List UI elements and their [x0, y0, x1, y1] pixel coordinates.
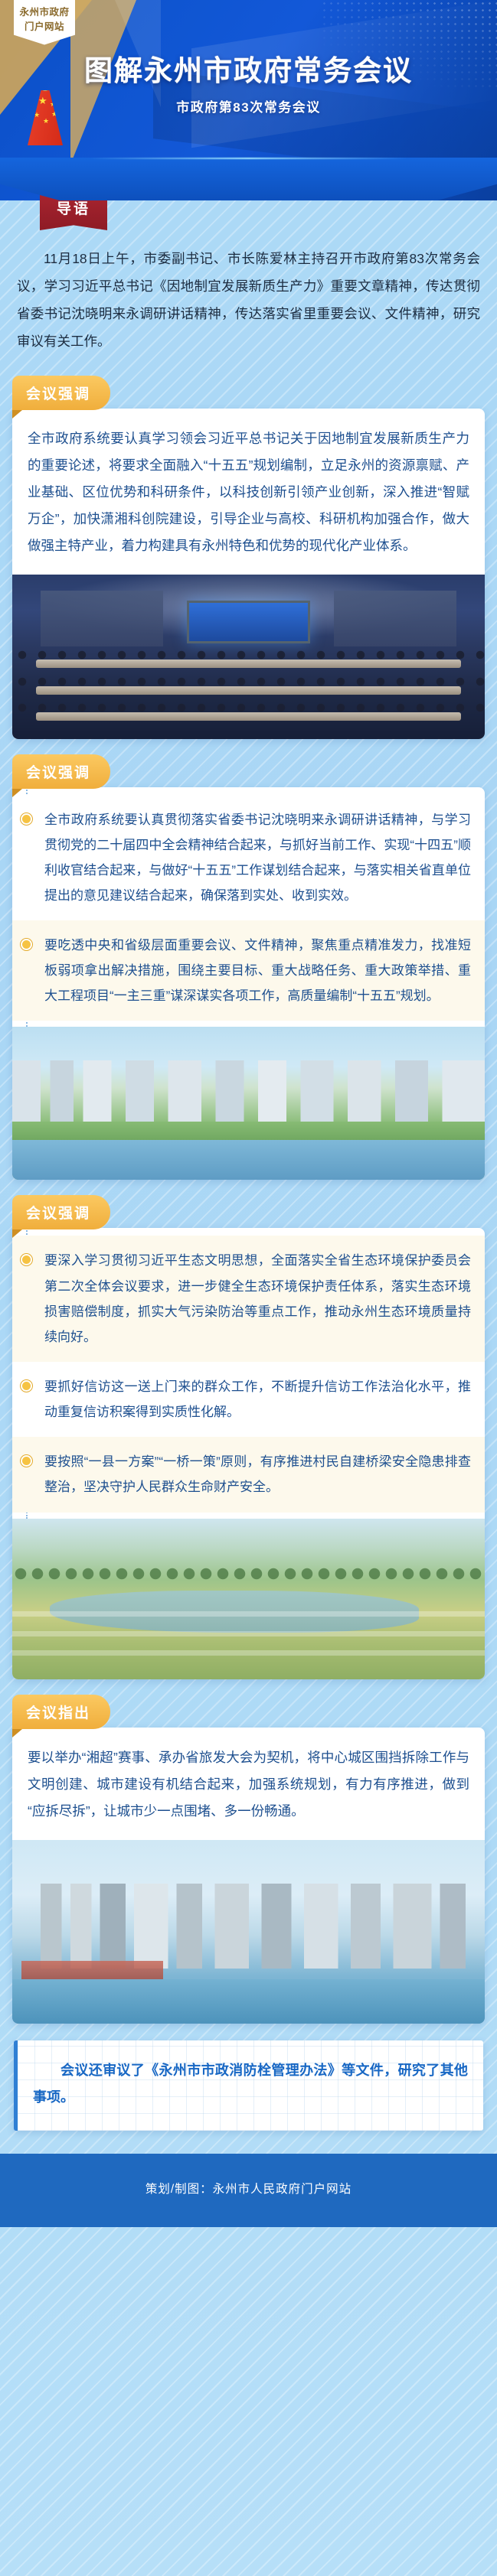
list-item-text: 要按照“一县一方案”“一桥一策”原则，有序推进村民自建桥梁安全隐患排查整治，坚决… [44, 1449, 471, 1500]
section-1-tab: 会议强调 [12, 376, 110, 410]
list-item: 全市政府系统要认真贯彻落实省委书记沈晓明来永调研讲话精神，与学习贯彻党的二十届四… [12, 795, 485, 921]
river-band [12, 1140, 485, 1180]
bullet-dot-icon [21, 1455, 32, 1467]
section-4-body: 要以举办“湘超”赛事、承办省旅发大会为契机，将中心城区围挡拆除工作与文明创建、城… [12, 1728, 485, 1840]
attendee-row [12, 676, 485, 687]
wall-panel-right [334, 591, 456, 646]
meeting-room-photo [12, 575, 485, 739]
field-strip [12, 1631, 485, 1636]
site-badge-line1: 永州市政府 [17, 5, 72, 20]
header-bottom-band [0, 158, 497, 200]
section-2-tab: 会议强调 [12, 754, 110, 789]
section-3-card: 要深入学习贯彻习近平生态文明思想，全面落实全省生态环境保护委员会第二次全体会议要… [12, 1228, 485, 1679]
bullet-dot-icon [21, 1254, 32, 1265]
conclusion-text: 会议还审议了《永州市市政消防栓管理办法》等文件，研究了其他事项。 [33, 2057, 468, 2111]
site-portal-badge[interactable]: 永州市政府 门户网站 [14, 0, 75, 45]
flag-star-icon: ★ [43, 118, 49, 125]
section-4-tab: 会议指出 [12, 1695, 110, 1729]
riverside-city-photo [12, 1840, 485, 2024]
page-header: 永州市政府 门户网站 ★ ★ ★ ★ ★ 图解永州市政府常务会议 市政府第83次… [0, 0, 497, 200]
section-2-card: 全市政府系统要认真贯彻落实省委书记沈晓明来永调研讲话精神，与学习贯彻党的二十届四… [12, 787, 485, 1181]
title-block: 图解永州市政府常务会议 市政府第83次常务会议 [0, 47, 497, 116]
city-skyline-photo [12, 1027, 485, 1180]
field-strip [12, 1650, 485, 1656]
section-2: 会议强调 全市政府系统要认真贯彻落实省委书记沈晓明来永调研讲话精神，与学习贯彻党… [12, 754, 485, 1181]
presentation-screen [187, 601, 309, 643]
section-4-paragraph: 要以举办“湘超”赛事、承办省旅发大会为契机，将中心城区围挡拆除工作与文明创建、城… [28, 1744, 469, 1825]
section-1: 会议强调 全市政府系统要认真学习领会习近平总书记关于因地制宜发展新质生产力的重要… [12, 376, 485, 739]
field-strip [12, 1611, 485, 1617]
infographic-page: 永州市政府 门户网站 ★ ★ ★ ★ ★ 图解永州市政府常务会议 市政府第83次… [0, 0, 497, 2576]
list-item: 要按照“一县一方案”“一桥一策”原则，有序推进村民自建桥梁安全隐患排查整治，坚决… [12, 1437, 485, 1512]
tree-line [12, 1567, 485, 1581]
section-2-bullet-list: 全市政府系统要认真贯彻落实省委书记沈晓明来永调研讲话精神，与学习贯彻党的二十届四… [12, 787, 485, 1027]
intro-section: 导语 11月18日上午，市委副书记、市长陈爱林主持召开市政府第83次常务会议，学… [0, 200, 497, 376]
list-item: 要深入学习贯彻习近平生态文明思想，全面落实全省生态环境保护委员会第二次全体会议要… [12, 1236, 485, 1362]
section-3-bullet-list: 要深入学习贯彻习近平生态文明思想，全面落实全省生态环境保护委员会第二次全体会议要… [12, 1228, 485, 1518]
header-glow-line [90, 158, 407, 159]
farmland-aerial-photo [12, 1519, 485, 1679]
high-rise-towers [41, 1884, 466, 1968]
intro-paragraph: 11月18日上午，市委副书记、市长陈爱林主持召开市政府第83次常务会议，学习习近… [17, 246, 480, 356]
attendee-row [12, 650, 485, 660]
conference-table-row [36, 659, 461, 668]
conclusion-box: 会议还审议了《永州市市政消防栓管理办法》等文件，研究了其他事项。 [14, 2040, 483, 2131]
attendee-row [12, 702, 485, 713]
section-3: 会议强调 要深入学习贯彻习近平生态文明思想，全面落实全省生态环境保护委员会第二次… [12, 1195, 485, 1679]
list-item-text: 要吃透中央和省级层面重要会议、文件精神，聚焦重点精准发力，找准短板弱项拿出解决措… [44, 933, 471, 1008]
bullet-dot-icon [21, 813, 32, 825]
section-1-card: 全市政府系统要认真学习领会习近平总书记关于因地制宜发展新质生产力的重要论述，将要… [12, 409, 485, 739]
conference-table-row [36, 712, 461, 721]
list-item-text: 全市政府系统要认真贯彻落实省委书记沈晓明来永调研讲话精神，与学习贯彻党的二十届四… [44, 807, 471, 909]
list-item-text: 要深入学习贯彻习近平生态文明思想，全面落实全省生态环境保护委员会第二次全体会议要… [44, 1248, 471, 1350]
river-water [12, 1979, 485, 2024]
page-footer: 策划/制图：永州市人民政府门户网站 [0, 2154, 497, 2227]
wall-panel-left [41, 591, 163, 646]
section-1-paragraph: 全市政府系统要认真学习领会习近平总书记关于因地制宜发展新质生产力的重要论述，将要… [28, 425, 469, 559]
skyline-buildings [12, 1060, 485, 1128]
site-badge-line2: 门户网站 [17, 20, 72, 34]
section-3-tab: 会议强调 [12, 1195, 110, 1229]
section-1-body: 全市政府系统要认真学习领会习近平总书记关于因地制宜发展新质生产力的重要论述，将要… [12, 409, 485, 575]
section-4: 会议指出 要以举办“湘超”赛事、承办省旅发大会为契机，将中心城区围挡拆除工作与文… [12, 1695, 485, 2024]
list-item-text: 要抓好信访这一送上门来的群众工作，不断提升信访工作法治化水平，推动重复信访积案得… [44, 1374, 471, 1425]
section-4-card: 要以举办“湘超”赛事、承办省旅发大会为契机，将中心城区围挡拆除工作与文明创建、城… [12, 1728, 485, 2024]
list-item: 要抓好信访这一送上门来的群众工作，不断提升信访工作法治化水平，推动重复信访积案得… [12, 1362, 485, 1437]
credit-text: 策划/制图：永州市人民政府门户网站 [146, 2183, 351, 2196]
bullet-dot-icon [21, 939, 32, 950]
page-title: 图解永州市政府常务会议 [0, 47, 497, 89]
page-subtitle: 市政府第83次常务会议 [0, 96, 497, 116]
bullet-dot-icon [21, 1380, 32, 1392]
list-item: 要吃透中央和省级层面重要会议、文件精神，聚焦重点精准发力，找准短板弱项拿出解决措… [12, 920, 485, 1021]
conference-table-row [36, 686, 461, 695]
